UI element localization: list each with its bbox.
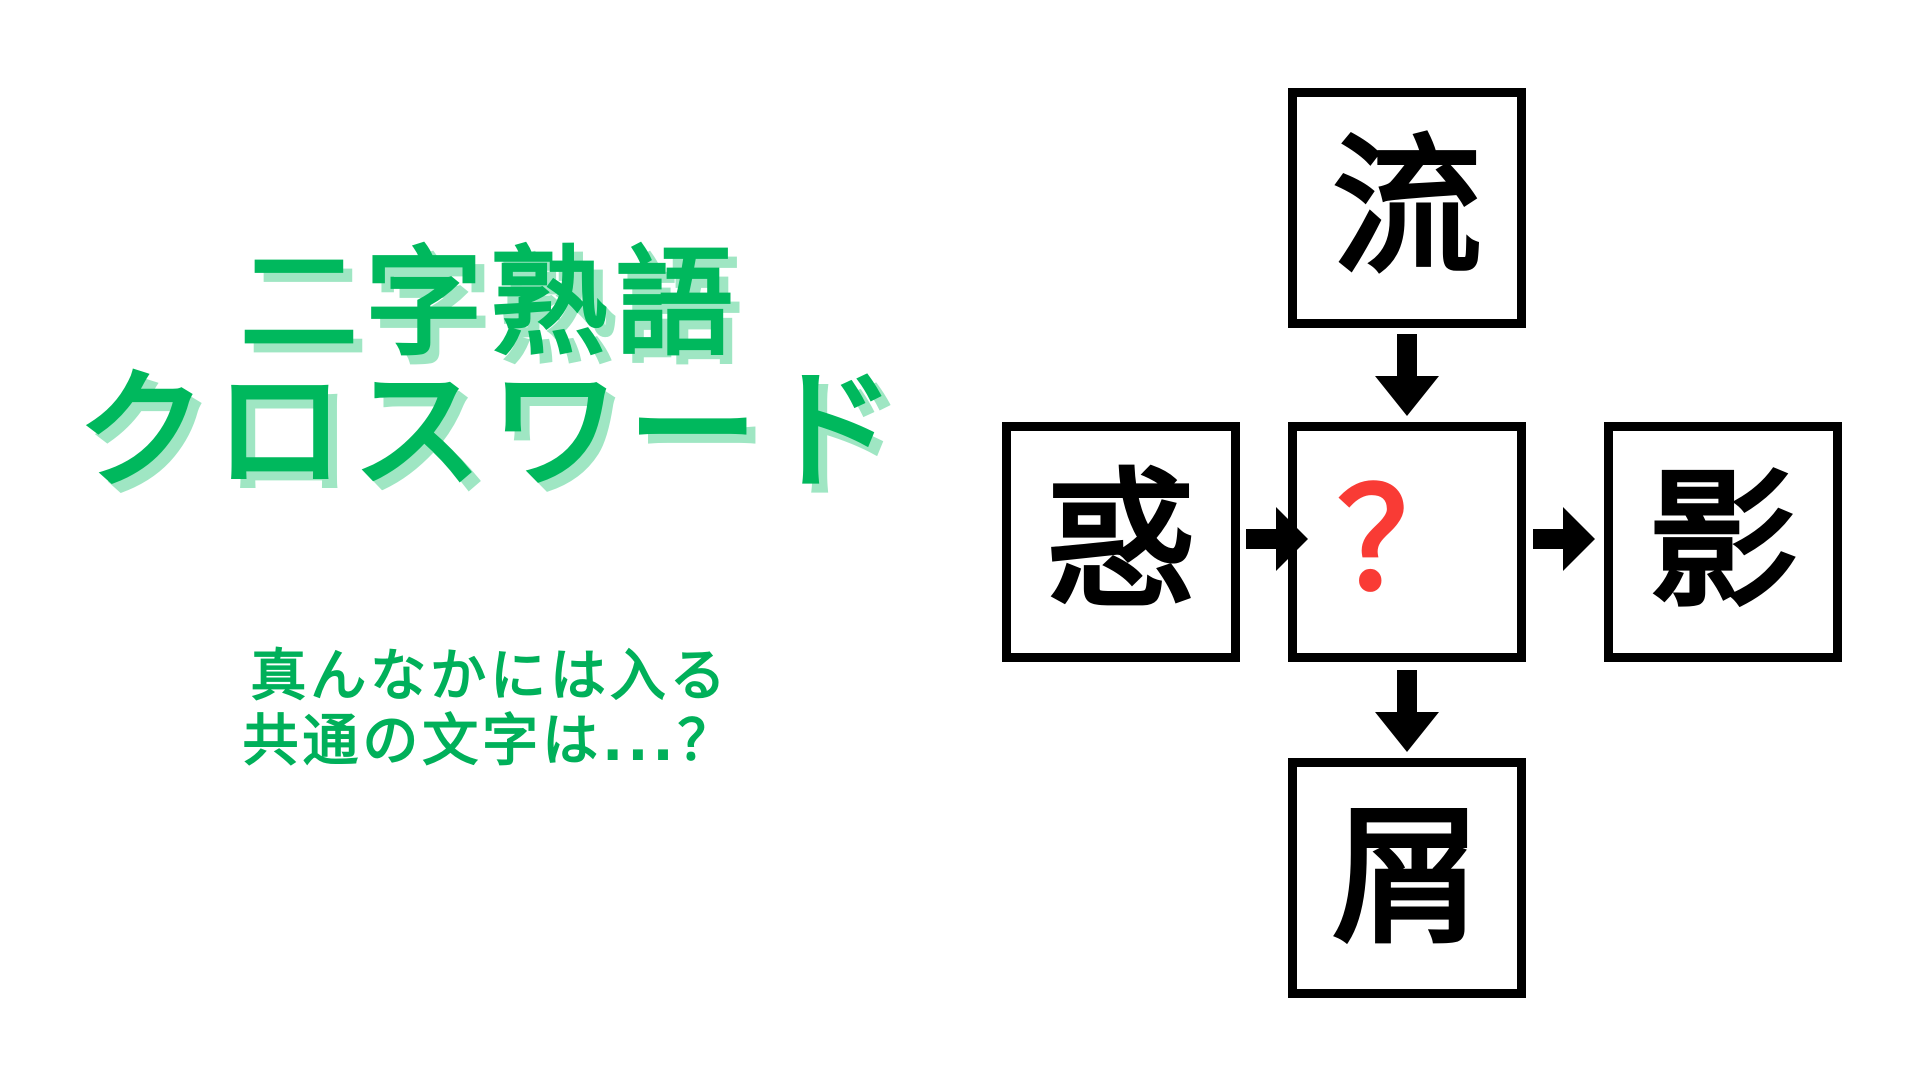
cell-bottom-char: 屑 xyxy=(1332,803,1482,953)
cell-left-char: 惑 xyxy=(1046,467,1196,617)
title-line-1: 二字熟語 xyxy=(0,240,980,367)
cell-left: 惑 xyxy=(1002,422,1240,662)
cell-center-answer[interactable]: ？ xyxy=(1288,422,1526,662)
cell-bottom: 屑 xyxy=(1288,758,1526,998)
title-line-2: クロスワード xyxy=(0,361,980,501)
cell-right-char: 影 xyxy=(1648,467,1798,617)
subtitle-line-1: 真んなかには入る xyxy=(0,645,980,710)
cell-top-char: 流 xyxy=(1332,133,1482,283)
arrow-right-icon-center-to-right xyxy=(1533,507,1595,571)
crossword-diagram: 流 惑 ？ 影 屑 xyxy=(960,0,1920,1080)
subtitle-block: 真んなかには入る 共通の文字は...？ xyxy=(0,645,980,775)
poster-canvas: 二字熟語 クロスワード 真んなかには入る 共通の文字は...？ 流 惑 ？ 影 … xyxy=(0,0,1920,1080)
arrow-down-icon-top-to-center xyxy=(1375,334,1439,416)
arrow-right-icon-left-to-center xyxy=(1246,507,1308,571)
cell-center-question-mark: ？ xyxy=(1337,472,1477,612)
cell-right: 影 xyxy=(1604,422,1842,662)
cell-top: 流 xyxy=(1288,88,1526,328)
arrow-down-icon-center-to-bottom xyxy=(1375,670,1439,752)
subtitle-line-2: 共通の文字は...？ xyxy=(0,710,980,775)
title-block: 二字熟語 クロスワード xyxy=(0,240,980,502)
